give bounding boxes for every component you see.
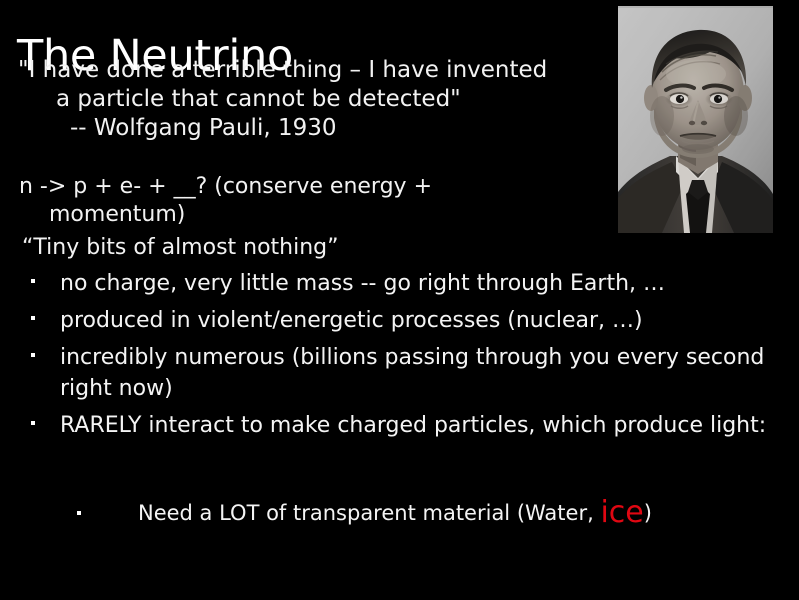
sub-bullet-suffix: )	[644, 501, 652, 525]
list-item-label: incredibly numerous (billions passing th…	[60, 342, 791, 404]
slide-canvas: The Neutrino "I have done a terrible thi…	[0, 0, 799, 600]
bullet-list: no charge, very little mass -- go right …	[0, 268, 799, 447]
list-item: RARELY interact to make charged particle…	[0, 410, 799, 441]
bullet-dot-icon	[31, 279, 35, 283]
pauli-portrait-photo	[618, 6, 773, 233]
sub-list-item-label: Need a LOT of transparent material (Wate…	[138, 497, 799, 529]
list-item-label: no charge, very little mass -- go right …	[60, 268, 791, 299]
sub-list-item: Need a LOT of transparent material (Wate…	[0, 497, 799, 529]
bullet-dot-icon	[31, 421, 35, 425]
list-item: incredibly numerous (billions passing th…	[0, 342, 799, 404]
equation-line-2: momentum)	[19, 201, 639, 229]
pauli-quote-block: "I have done a terrible thing – I have i…	[18, 56, 608, 143]
quote-attribution: -- Wolfgang Pauli, 1930	[18, 114, 608, 143]
quote-line-2: a particle that cannot be detected"	[18, 85, 608, 114]
list-item-label: produced in violent/energetic processes …	[60, 305, 791, 336]
list-item: produced in violent/energetic processes …	[0, 305, 799, 336]
highlight-ice-word: ice	[600, 495, 643, 530]
list-item: no charge, very little mass -- go right …	[0, 268, 799, 299]
decay-equation-block: n -> p + e- + __? (conserve energy + mom…	[19, 173, 639, 229]
bullet-dot-icon	[77, 511, 81, 515]
quote-line-1: "I have done a terrible thing – I have i…	[18, 56, 608, 85]
equation-line-1: n -> p + e- + __? (conserve energy +	[19, 173, 639, 201]
sub-bullet-prefix: Need a LOT of transparent material (Wate…	[138, 501, 600, 525]
bullet-dot-icon	[31, 316, 35, 320]
bullet-dot-icon	[31, 353, 35, 357]
neutrino-tagline: “Tiny bits of almost nothing”	[22, 234, 339, 262]
list-item-label: RARELY interact to make charged particle…	[60, 410, 791, 441]
